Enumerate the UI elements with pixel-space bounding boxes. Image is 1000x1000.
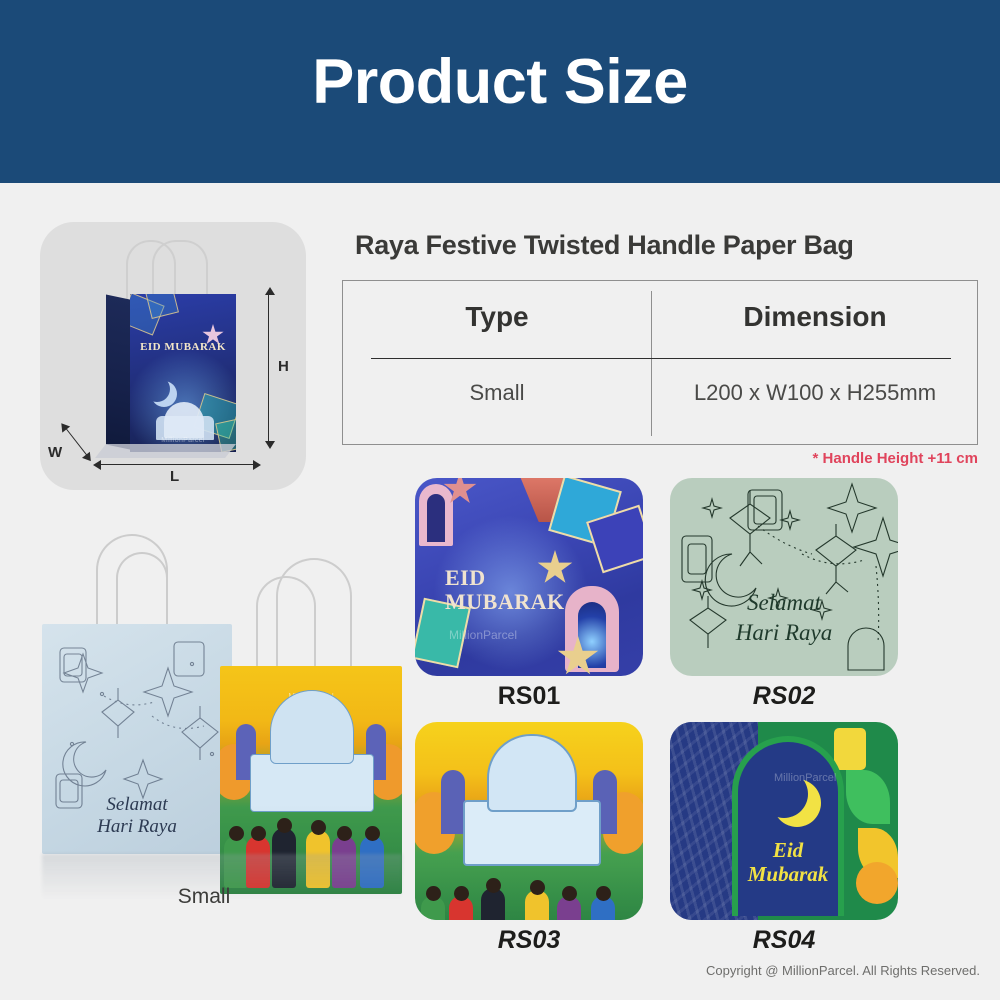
bag-pair-photo: Selamat Hari Raya MillionParcel xyxy=(24,520,410,920)
person-head xyxy=(426,886,441,901)
back-bag-script-line2: Hari Raya xyxy=(42,816,232,838)
variant-swatch-rs01[interactable]: EID MUBARAK MillionParcel xyxy=(415,478,643,676)
bag-thumbnail-image: EID MUBARAK MillionParcel xyxy=(92,238,262,474)
bag-bottom-face xyxy=(95,444,236,458)
variant-label-rs03: RS03 xyxy=(415,926,643,955)
back-bag-script: Selamat Hari Raya xyxy=(42,794,232,838)
cell-dimension-small: L200 x W100 x H255mm xyxy=(651,380,979,406)
variant-rs02-script: Selamat Hari Raya xyxy=(670,588,898,648)
variant-artwork-rs04: Eid Mubarak MillionParcel xyxy=(670,722,898,920)
bag-side-panel xyxy=(106,294,132,450)
variant-label-rs01: RS01 xyxy=(415,682,643,711)
front-bag-handle-inner-icon xyxy=(256,576,316,670)
variant-rs04-watermark: MillionParcel xyxy=(774,772,836,784)
variant-label-rs02: RS02 xyxy=(670,682,898,711)
person-head xyxy=(251,826,266,841)
person-head xyxy=(229,826,244,841)
person-figure xyxy=(591,896,615,920)
variant-swatch-rs04[interactable]: Eid Mubarak MillionParcel xyxy=(670,722,898,920)
person-head xyxy=(337,826,352,841)
variant-rs01-watermark: MillionParcel xyxy=(449,628,517,642)
arch-shape xyxy=(419,484,453,546)
arch-shape: Eid Mubarak xyxy=(732,736,844,916)
spec-table: Type Dimension Small L200 x W100 x H255m… xyxy=(342,280,978,445)
product-thumbnail-card: EID MUBARAK MillionParcel H L W xyxy=(40,222,306,490)
product-title: Raya Festive Twisted Handle Paper Bag xyxy=(355,230,980,261)
variant-artwork-rs02: Selamat Hari Raya xyxy=(670,478,898,676)
lantern-icon xyxy=(834,728,866,770)
variant-rs01-text: EID MUBARAK xyxy=(445,566,565,614)
people-group xyxy=(415,862,643,920)
variant-artwork-rs03 xyxy=(415,722,643,920)
person-figure xyxy=(557,896,581,920)
mosque-dome-shape xyxy=(164,402,204,438)
table-column-divider xyxy=(651,291,652,436)
person-head xyxy=(365,826,380,841)
variant-artwork-rs01: EID MUBARAK MillionParcel xyxy=(415,478,643,676)
header-band: Product Size xyxy=(0,0,1000,183)
circle-shape xyxy=(856,862,898,904)
copyright-text: Copyright @ MillionParcel. All Rights Re… xyxy=(600,963,980,978)
person-head xyxy=(596,886,611,901)
crescent-moon-icon xyxy=(144,376,170,402)
column-header-dimension: Dimension xyxy=(651,301,979,333)
width-dimension-arrow xyxy=(66,428,88,455)
variant-swatch-rs03[interactable] xyxy=(415,722,643,920)
bag-watermark: MillionParcel xyxy=(130,437,236,444)
height-dimension-arrow xyxy=(268,294,269,442)
handle-height-note: * Handle Height +11 cm xyxy=(342,450,978,467)
back-bag-selamat-hari-raya: Selamat Hari Raya xyxy=(42,624,232,854)
person-figure xyxy=(525,890,549,920)
bag-size-label: Small xyxy=(24,885,384,909)
bag-front-panel: EID MUBARAK MillionParcel xyxy=(130,294,236,452)
variant-rs01-line1: EID xyxy=(445,566,565,590)
leaf-shape xyxy=(846,770,890,824)
person-head xyxy=(311,820,326,835)
person-figure xyxy=(421,896,445,920)
variant-rs04-line1: Eid xyxy=(738,838,838,862)
variant-label-rs04: RS04 xyxy=(670,926,898,955)
cell-type-small: Small xyxy=(343,380,651,406)
variant-rs02-line2: Hari Raya xyxy=(670,618,898,648)
person-figure xyxy=(449,896,473,920)
table-header-divider xyxy=(371,358,951,359)
mosque-dome-shape xyxy=(270,690,354,764)
person-head xyxy=(277,818,292,833)
person-head xyxy=(562,886,577,901)
length-dimension-label: L xyxy=(170,468,179,485)
height-dimension-label: H xyxy=(278,358,289,375)
mosque-dome-shape xyxy=(487,734,577,812)
person-head xyxy=(530,880,545,895)
variant-rs01-line2: MUBARAK xyxy=(445,590,565,614)
width-dimension-label: W xyxy=(48,444,62,461)
bag-facet-decoration xyxy=(145,294,179,319)
person-head xyxy=(454,886,469,901)
back-bag-script-line1: Selamat xyxy=(42,794,232,816)
person-figure xyxy=(481,888,505,920)
bag-eid-text: EID MUBARAK xyxy=(130,342,236,353)
variant-rs04-line2: Mubarak xyxy=(738,862,838,886)
variant-rs04-script: Eid Mubarak xyxy=(738,838,838,886)
product-size-infographic: Product Size EID MUBARAK MillionParcel H xyxy=(0,0,1000,1000)
column-header-type: Type xyxy=(343,301,651,333)
minaret-shape xyxy=(441,770,465,834)
variant-swatch-rs02[interactable]: Selamat Hari Raya xyxy=(670,478,898,676)
length-dimension-arrow xyxy=(100,464,254,465)
variant-rs02-line1: Selamat xyxy=(670,588,898,618)
back-bag-handle-inner-icon xyxy=(116,552,168,630)
page-title: Product Size xyxy=(0,46,1000,118)
person-head xyxy=(486,878,501,893)
